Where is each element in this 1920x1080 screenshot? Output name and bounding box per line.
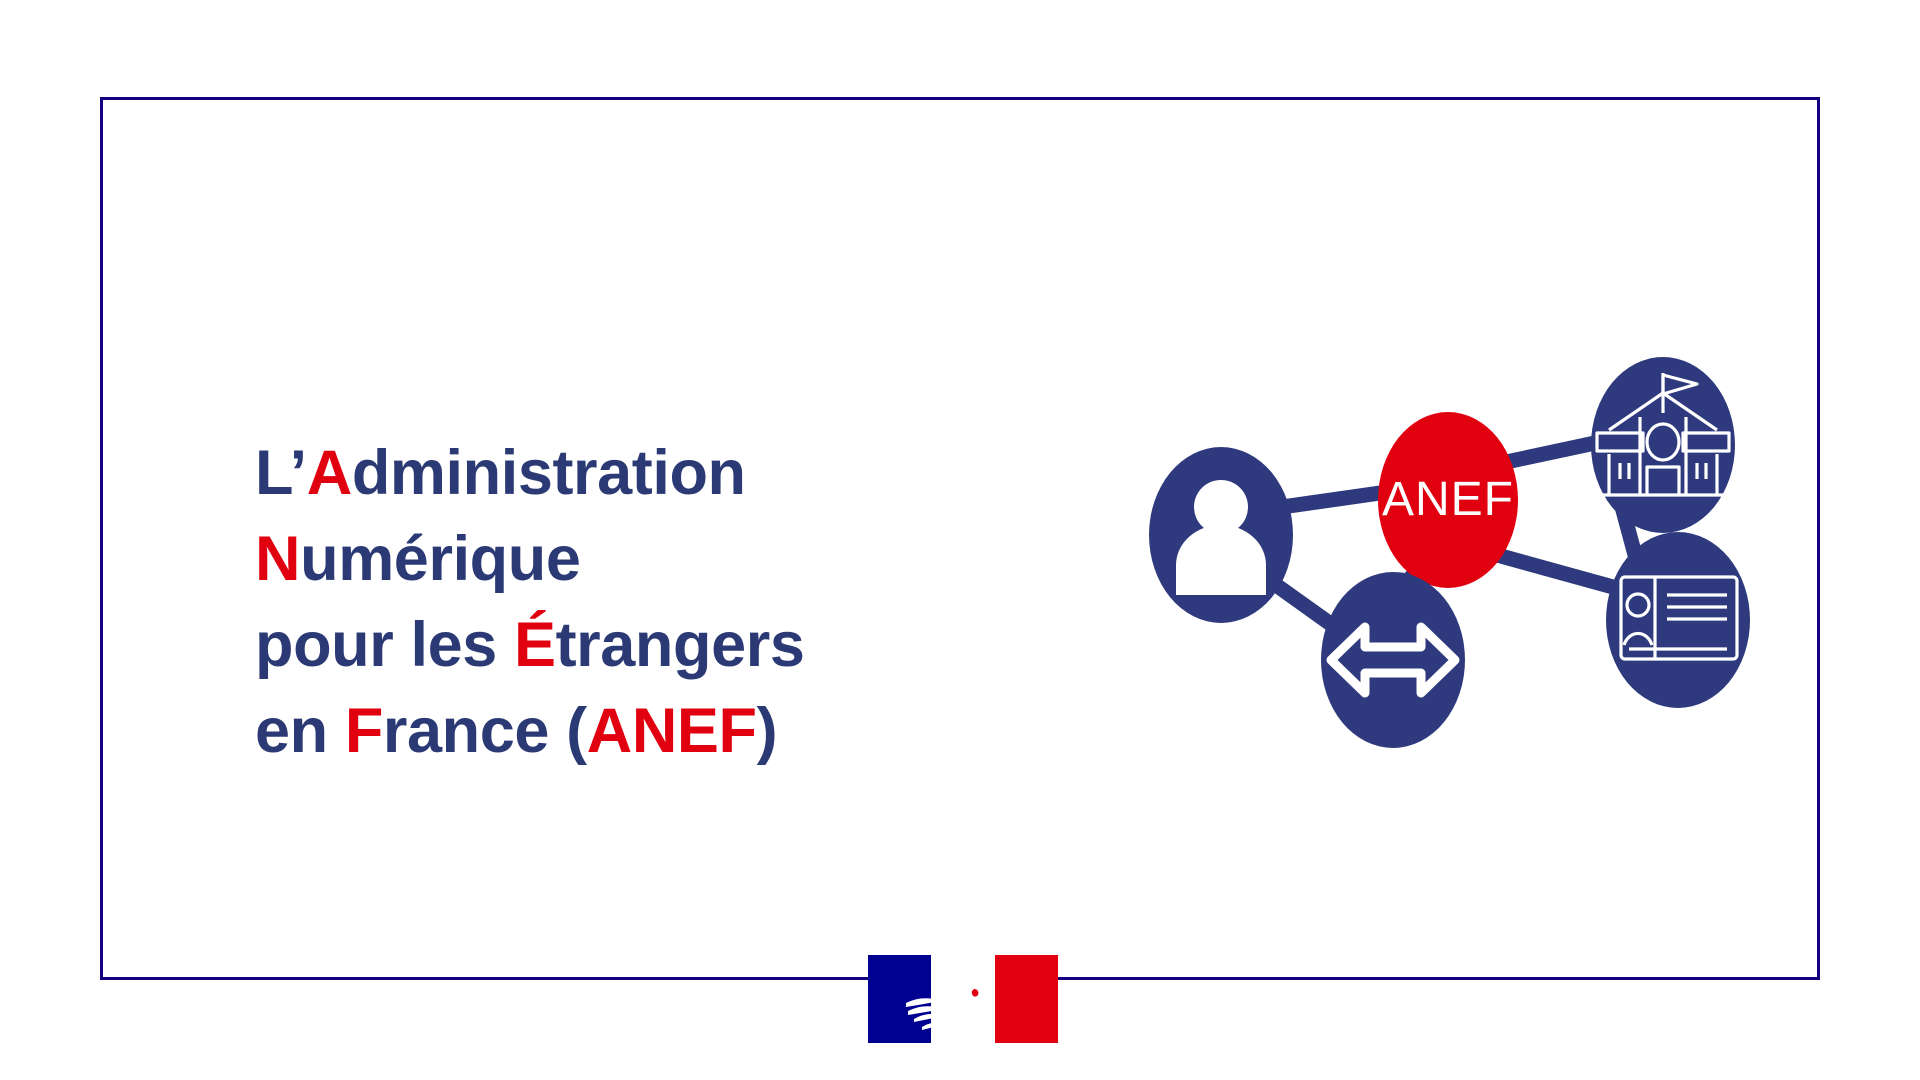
title-part: ) (757, 696, 778, 766)
title-part: L’ (255, 438, 307, 508)
title-part-accent: N (255, 524, 300, 594)
title-part: dministration (352, 438, 746, 508)
exchange-node-circle (1321, 572, 1465, 748)
title-part: rance ( (383, 696, 587, 766)
title-part: trangers (556, 610, 805, 680)
title-part-accent: A (307, 438, 352, 508)
node-exchange[interactable] (1321, 572, 1465, 748)
title-line-4: en France (ANEF) (255, 688, 1035, 774)
node-person[interactable] (1149, 447, 1293, 623)
anef-network-diagram: ANEF (1143, 355, 1763, 755)
marianne-french-republic-logo (868, 955, 1058, 1043)
title-part: umérique (300, 524, 580, 594)
title-line-2: Numérique (255, 516, 1035, 602)
title-part: pour les (255, 610, 514, 680)
node-town-hall[interactable] (1591, 357, 1735, 533)
marianne-profile-icon (868, 955, 1058, 1043)
node-id-card[interactable] (1606, 532, 1750, 708)
title-part-accent: ANEF (587, 696, 757, 766)
title-part: en (255, 696, 345, 766)
title-part-accent: F (345, 696, 383, 766)
title-line-3: pour les Étrangers (255, 602, 1035, 688)
page-title: L’Administration Numérique pour les Étra… (255, 430, 1035, 774)
anef-center-label: ANEF (1382, 473, 1514, 526)
slide-frame: L’Administration Numérique pour les Étra… (100, 97, 1820, 980)
title-part-accent: É (514, 610, 556, 680)
title-line-1: L’Administration (255, 430, 1035, 516)
node-anef-center[interactable]: ANEF (1378, 412, 1518, 588)
